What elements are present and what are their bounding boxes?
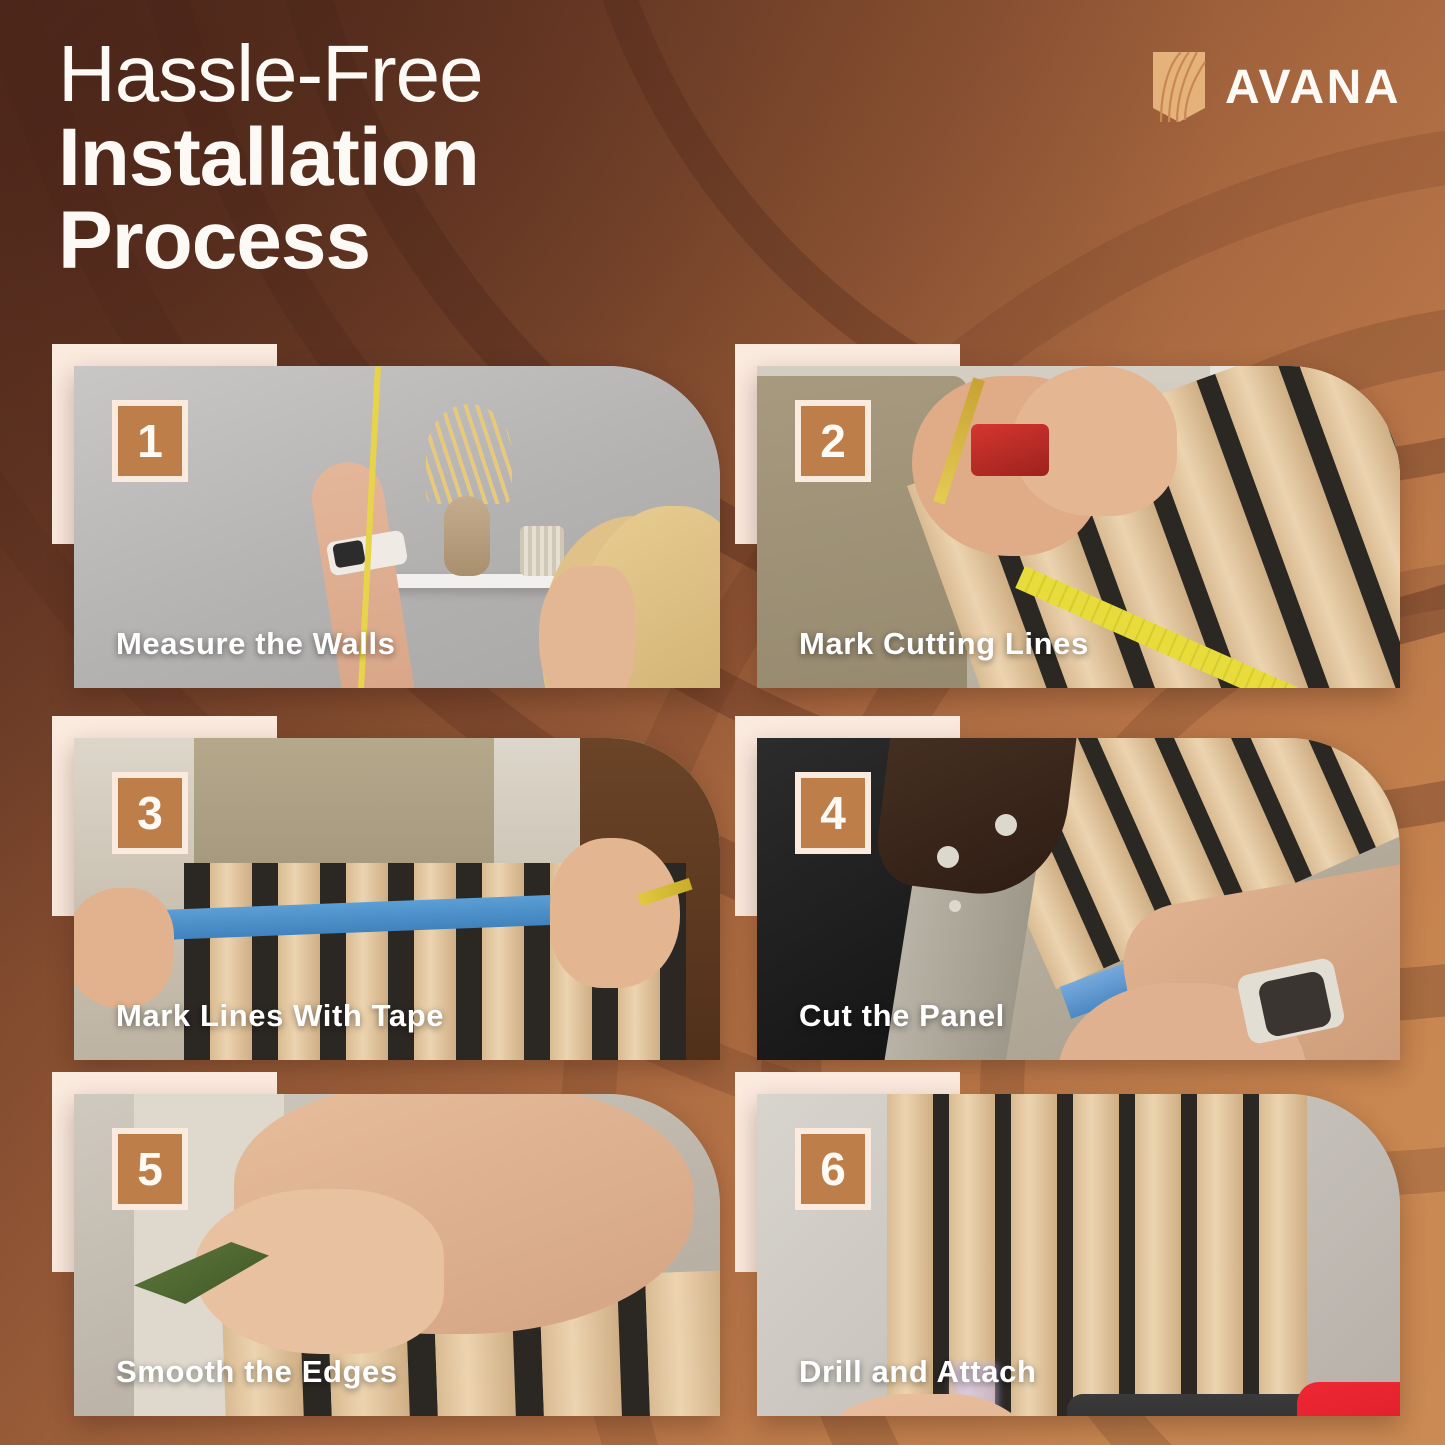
step-card-3[interactable]: 3 Mark Lines With Tape (52, 716, 720, 1060)
step-card-5[interactable]: 5 Smooth the Edges (52, 1072, 720, 1416)
step-number: 4 (801, 778, 865, 848)
steps-grid: 1 Measure the Walls (0, 0, 1445, 1445)
step-card-2[interactable]: 2 Mark Cutting Lines (735, 344, 1400, 688)
card-body[interactable]: 2 Mark Cutting Lines (757, 366, 1400, 688)
step-number: 1 (118, 406, 182, 476)
step-card-1[interactable]: 1 Measure the Walls (52, 344, 720, 688)
step-caption: Measure the Walls (116, 626, 396, 662)
step-card-6[interactable]: CRAFTSMAN 6 Drill and Attach (735, 1072, 1400, 1416)
step-number: 6 (801, 1134, 865, 1204)
step-caption: Mark Cutting Lines (799, 626, 1089, 662)
step-number: 2 (801, 406, 865, 476)
step-number-badge: 1 (112, 400, 188, 482)
step-caption: Smooth the Edges (116, 1354, 398, 1390)
card-body[interactable]: 4 Cut the Panel (757, 738, 1400, 1060)
card-body[interactable]: CRAFTSMAN 6 Drill and Attach (757, 1094, 1400, 1416)
step-caption: Drill and Attach (799, 1354, 1037, 1390)
step-number: 5 (118, 1134, 182, 1204)
step-caption: Mark Lines With Tape (116, 998, 444, 1034)
card-body[interactable]: 3 Mark Lines With Tape (74, 738, 720, 1060)
step-number-badge: 3 (112, 772, 188, 854)
step-number-badge: 4 (795, 772, 871, 854)
step-card-4[interactable]: 4 Cut the Panel (735, 716, 1400, 1060)
step-number: 3 (118, 778, 182, 848)
card-body[interactable]: 1 Measure the Walls (74, 366, 720, 688)
step-number-badge: 6 (795, 1128, 871, 1210)
infographic-poster: Hassle-Free Installation Process AVANA (0, 0, 1445, 1445)
step-caption: Cut the Panel (799, 998, 1005, 1034)
card-body[interactable]: 5 Smooth the Edges (74, 1094, 720, 1416)
step-number-badge: 2 (795, 400, 871, 482)
step-number-badge: 5 (112, 1128, 188, 1210)
